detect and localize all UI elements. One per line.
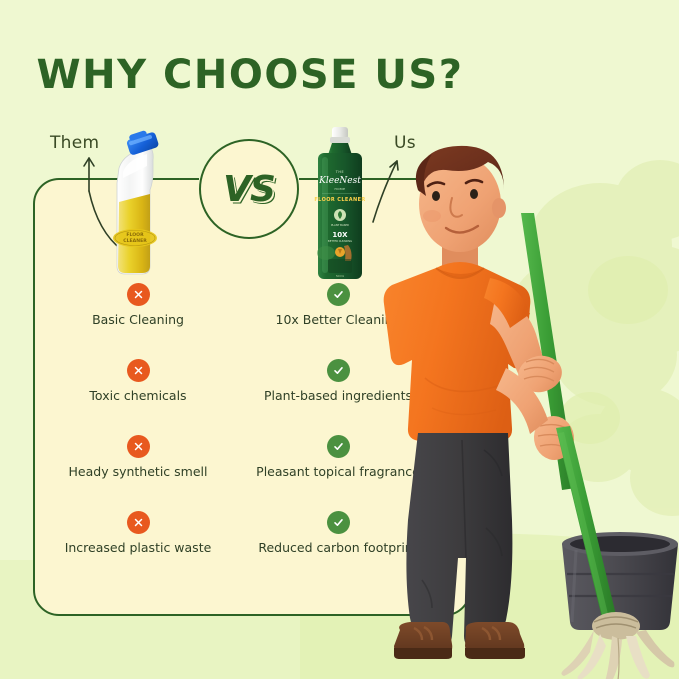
page-title: WHY CHOOSE US? bbox=[0, 52, 500, 98]
svg-text:KleeNest: KleeNest bbox=[318, 176, 361, 186]
svg-text:PLANT BASED: PLANT BASED bbox=[331, 223, 349, 227]
svg-text:CLEANER: CLEANER bbox=[123, 238, 147, 244]
check-icon bbox=[327, 283, 350, 306]
cross-icon bbox=[127, 359, 150, 382]
cross-icon bbox=[127, 511, 150, 534]
check-icon bbox=[327, 511, 350, 534]
right-shoe bbox=[465, 622, 525, 659]
check-icon bbox=[327, 359, 350, 382]
svg-text:500ml: 500ml bbox=[336, 274, 344, 278]
infographic-canvas: WHY CHOOSE US? Them Us VS bbox=[0, 0, 679, 679]
list-item: Heady synthetic smell bbox=[38, 435, 238, 511]
svg-text:HOME: HOME bbox=[334, 187, 345, 191]
competitor-feature-list: Basic Cleaning Toxic chemicals Heady syn… bbox=[38, 283, 238, 587]
mop-head bbox=[561, 612, 674, 679]
svg-text:THE: THE bbox=[335, 170, 345, 174]
svg-text:BETTER CLEANING: BETTER CLEANING bbox=[328, 239, 352, 243]
cross-icon bbox=[127, 435, 150, 458]
list-item: Increased plastic waste bbox=[38, 511, 238, 587]
svg-text:10X: 10X bbox=[332, 231, 348, 239]
man-with-mop-illustration bbox=[380, 128, 679, 679]
cross-icon bbox=[127, 283, 150, 306]
vs-badge: VS bbox=[199, 139, 299, 239]
list-item: Toxic chemicals bbox=[38, 359, 238, 435]
left-shoe bbox=[394, 622, 452, 659]
svg-text:FLOOR: FLOOR bbox=[126, 232, 144, 238]
list-item-label: Basic Cleaning bbox=[38, 312, 238, 327]
competitor-bottle: FLOOR CLEANER bbox=[95, 128, 200, 278]
kleenest-bottle: THE KleeNest HOME FLOOR CLEANER PLANT BA… bbox=[308, 125, 372, 283]
vs-label: VS bbox=[223, 169, 275, 210]
list-item-label: Increased plastic waste bbox=[38, 540, 238, 555]
list-item-label: Heady synthetic smell bbox=[38, 464, 238, 479]
svg-text:FLOOR CLEANER: FLOOR CLEANER bbox=[314, 197, 365, 203]
check-icon bbox=[327, 435, 350, 458]
list-item-label: Toxic chemicals bbox=[38, 388, 238, 403]
list-item: Basic Cleaning bbox=[38, 283, 238, 359]
them-label: Them bbox=[50, 133, 99, 153]
